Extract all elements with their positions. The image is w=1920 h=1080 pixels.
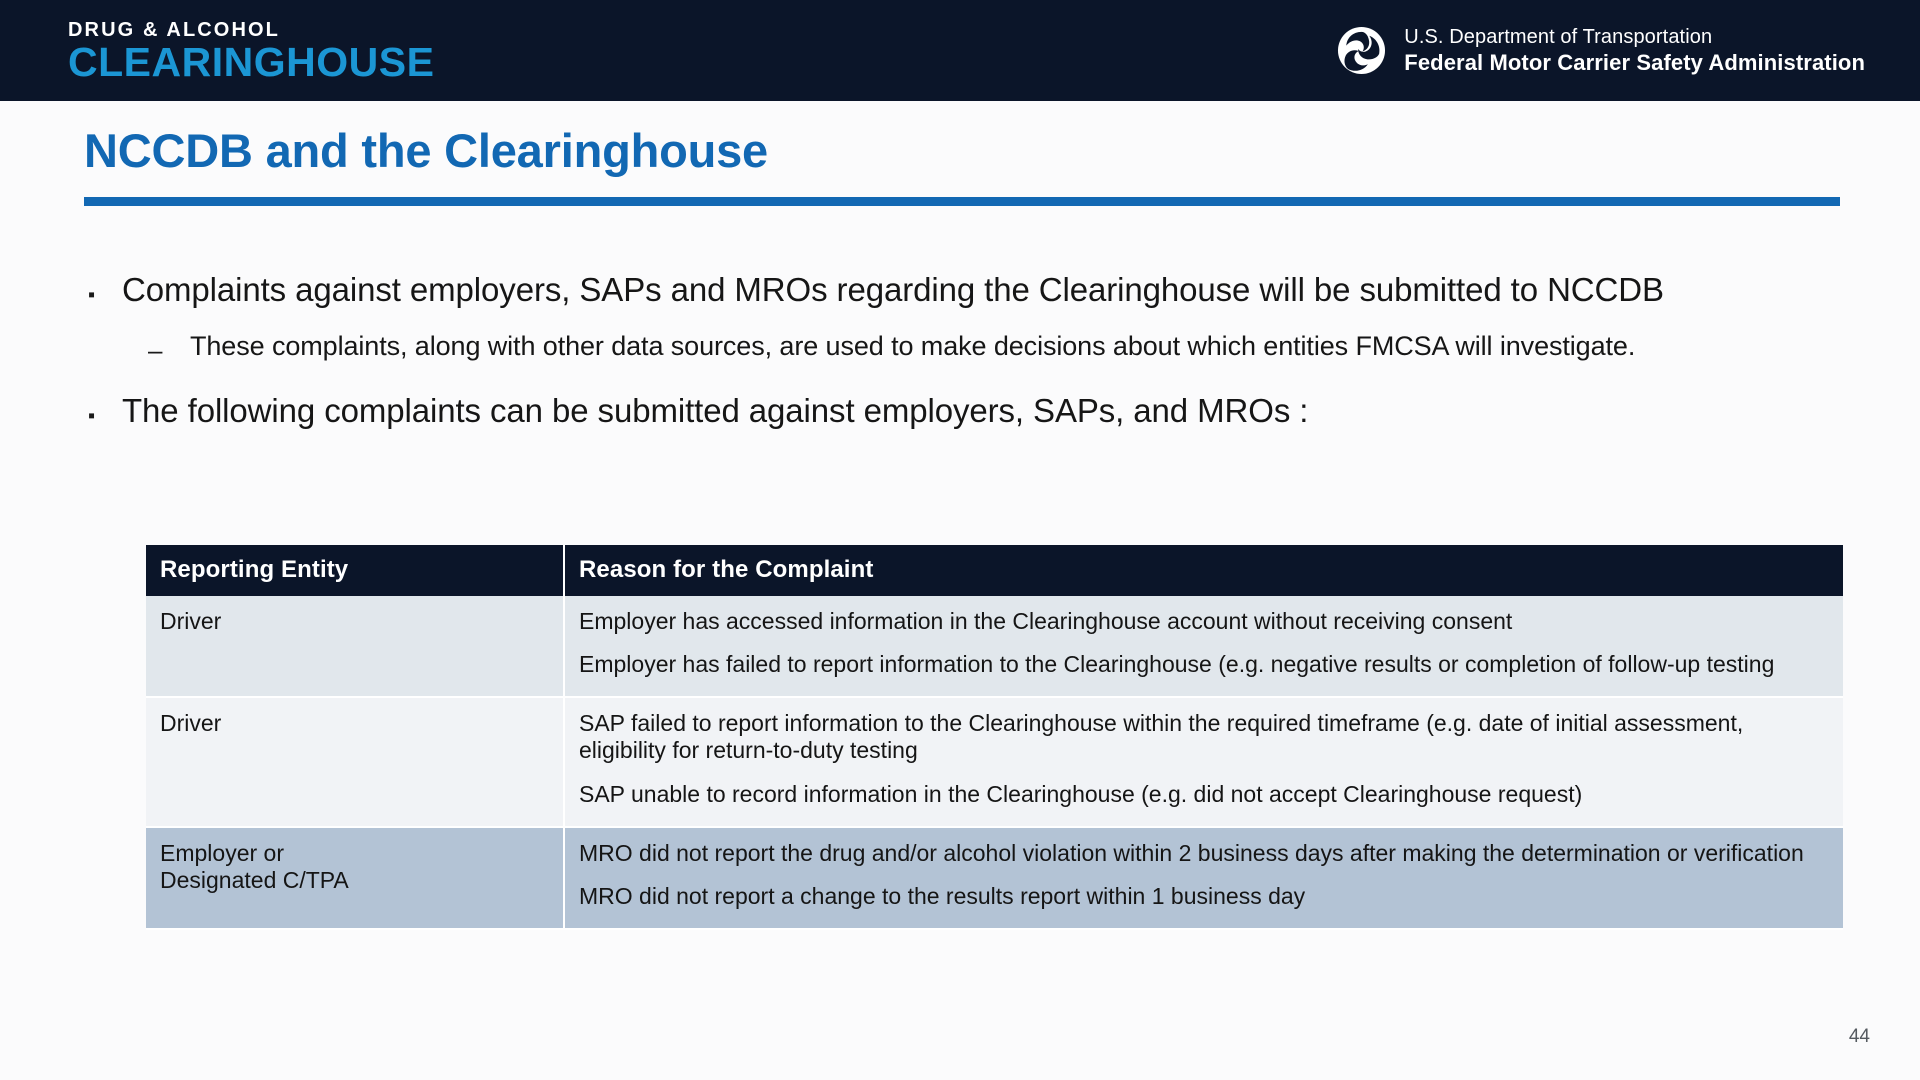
bullet-item-3: ▪ The following complaints can be submit… (84, 391, 1874, 441)
table-row: Driver Employer has accessed information… (146, 596, 1843, 697)
cell-reporting-entity: Employer or Designated C/TPA (146, 827, 564, 929)
title-underline-rule (84, 197, 1840, 206)
cell-reporting-entity: Driver (146, 596, 564, 697)
brand-line-clearinghouse: CLEARINGHOUSE (68, 43, 434, 82)
table-row: Employer or Designated C/TPA MRO did not… (146, 827, 1843, 929)
table-row: Driver SAP failed to report information … (146, 697, 1843, 826)
bullet-item-1-text: Complaints against employers, SAPs and M… (122, 270, 1664, 310)
reason-line: MRO did not report the drug and/or alcoh… (579, 840, 1829, 867)
slide: DRUG & ALCOHOL CLEARINGHOUSE U.S. Depart… (0, 0, 1920, 1080)
square-bullet-icon: ▪ (84, 270, 122, 320)
reason-line: MRO did not report a change to the resul… (579, 883, 1829, 910)
cell-reason: Employer has accessed information in the… (564, 596, 1843, 697)
clearinghouse-logo: DRUG & ALCOHOL CLEARINGHOUSE (68, 20, 434, 82)
cell-reason: SAP failed to report information to the … (564, 697, 1843, 826)
complaints-table: Reporting Entity Reason for the Complain… (146, 545, 1843, 930)
bullet-item-3-text: The following complaints can be submitte… (122, 391, 1308, 431)
bullet-item-2-text: These complaints, along with other data … (190, 330, 1635, 363)
column-header-reason: Reason for the Complaint (564, 545, 1843, 596)
bullet-item-1: ▪ Complaints against employers, SAPs and… (84, 270, 1874, 320)
page-title: NCCDB and the Clearinghouse (84, 126, 1840, 175)
agency-name-block: U.S. Department of Transportation Federa… (1404, 25, 1865, 76)
column-header-reporting-entity: Reporting Entity (146, 545, 564, 596)
dot-triskelion-icon (1337, 26, 1386, 75)
title-area: NCCDB and the Clearinghouse (84, 126, 1840, 206)
bullet-item-2: – These complaints, along with other dat… (148, 330, 1874, 371)
agency-administration-label: Federal Motor Carrier Safety Administrat… (1404, 50, 1865, 76)
complaints-table-wrapper: Reporting Entity Reason for the Complain… (146, 545, 1843, 930)
cell-reporting-entity: Driver (146, 697, 564, 826)
square-bullet-icon: ▪ (84, 391, 122, 441)
reason-line: Employer has accessed information in the… (579, 608, 1829, 635)
reason-line: Employer has failed to report informatio… (579, 651, 1829, 678)
brand-line-drug-alcohol: DRUG & ALCOHOL (68, 20, 434, 40)
slide-header-band: DRUG & ALCOHOL CLEARINGHOUSE U.S. Depart… (0, 0, 1920, 101)
reason-line: SAP failed to report information to the … (579, 710, 1829, 764)
page-number: 44 (1849, 1026, 1870, 1048)
bullet-spacer (84, 371, 1874, 391)
dot-fmcsa-logo: U.S. Department of Transportation Federa… (1337, 25, 1865, 76)
reason-line: SAP unable to record information in the … (579, 781, 1829, 808)
agency-department-label: U.S. Department of Transportation (1404, 25, 1865, 50)
table-header-row: Reporting Entity Reason for the Complain… (146, 545, 1843, 596)
cell-reason: MRO did not report the drug and/or alcoh… (564, 827, 1843, 929)
dash-bullet-icon: – (148, 330, 190, 371)
body-bullet-list: ▪ Complaints against employers, SAPs and… (84, 270, 1874, 447)
